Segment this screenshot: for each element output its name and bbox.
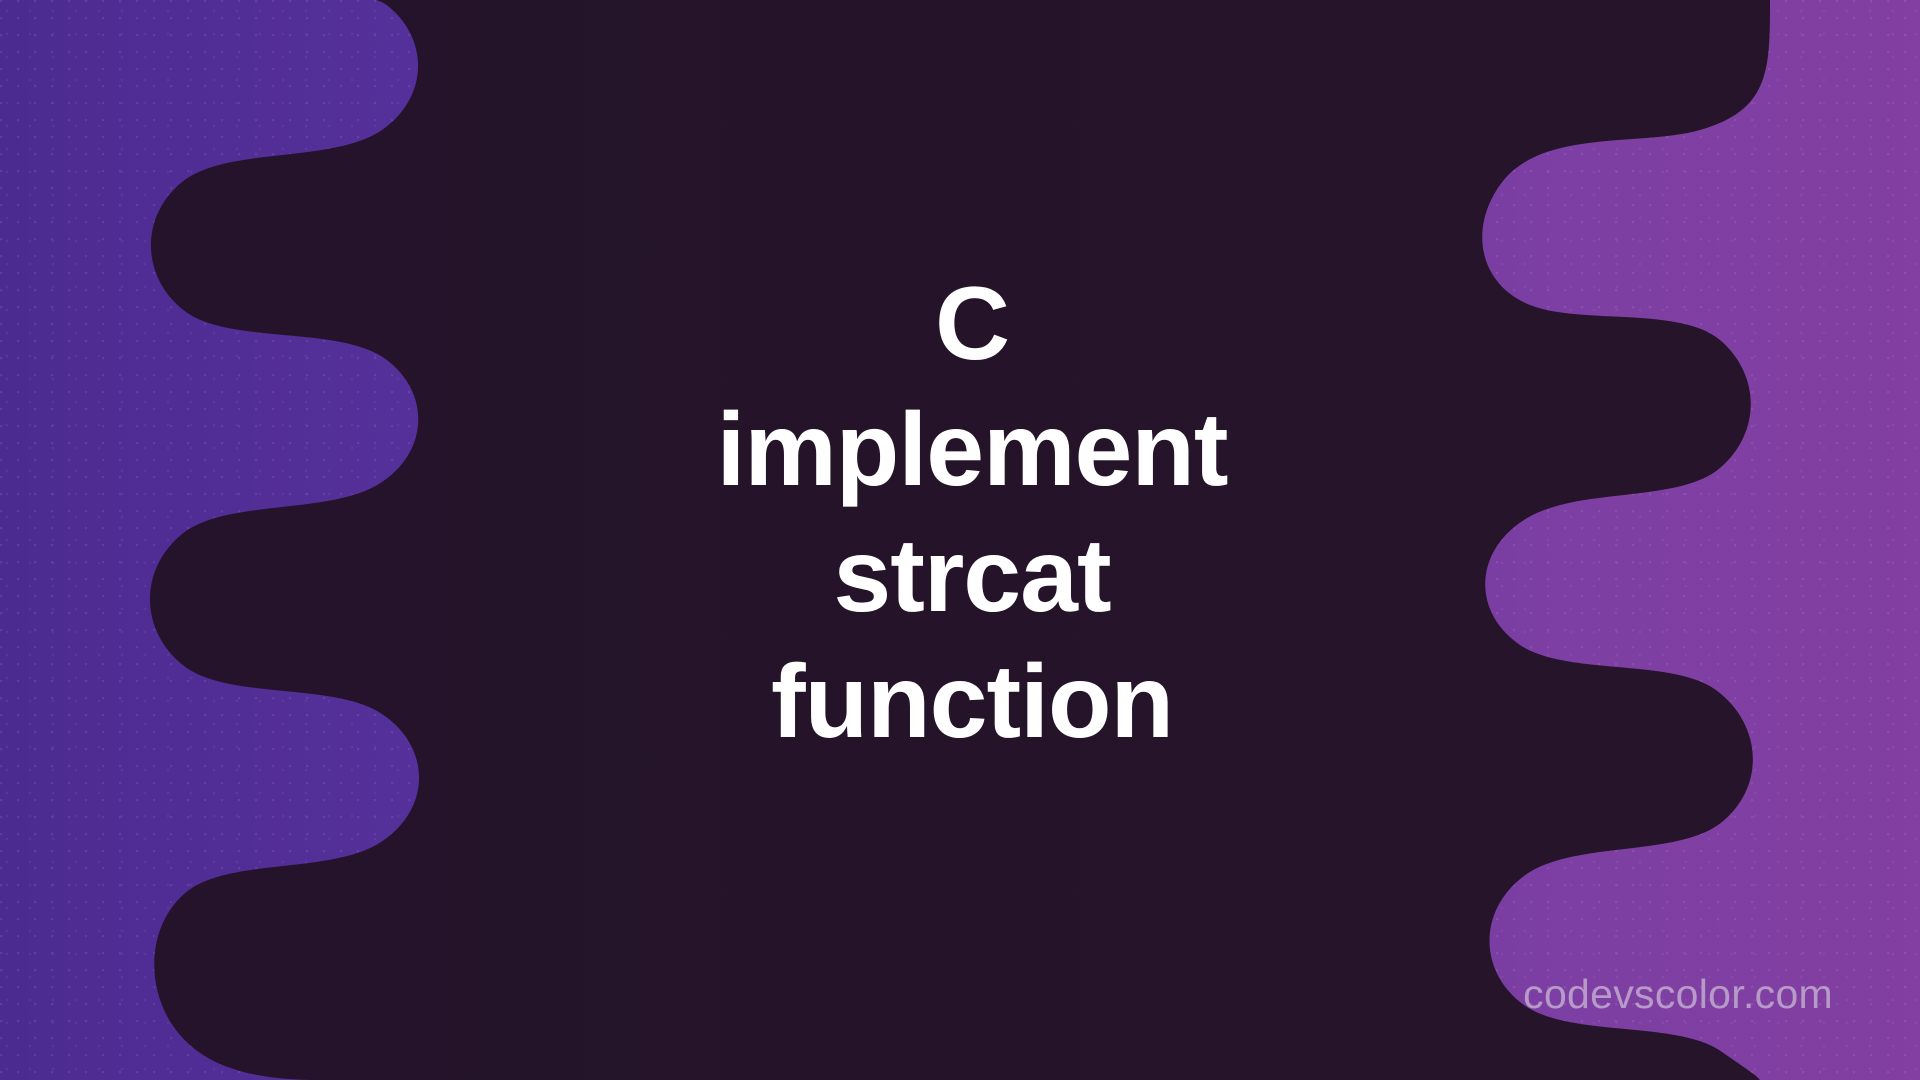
watermark-site-name: codevscolor.com bbox=[1523, 971, 1833, 1018]
blob-path bbox=[150, 0, 1770, 1080]
banner-image: C implement strcat function codevscolor.… bbox=[0, 0, 1920, 1080]
wavy-dark-blob bbox=[0, 0, 1920, 1080]
